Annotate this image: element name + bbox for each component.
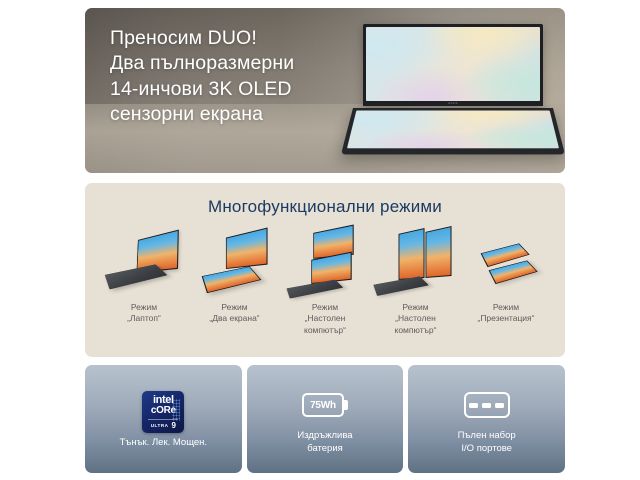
brand-logo: ASUS — [448, 101, 458, 105]
io-slot-1 — [469, 403, 478, 408]
battery-capacity: 75Wh — [310, 400, 336, 411]
mode-desktop-sidebyside-icon — [371, 227, 461, 299]
desktop-detached-keyboard-2 — [373, 276, 429, 296]
battery-body: 75Wh — [302, 393, 344, 417]
io-ports-icon — [464, 392, 510, 418]
mode-desktop-b-label-line-2: „Настолен — [395, 313, 437, 324]
hero-headline-line-1: Преносим DUO! — [110, 26, 375, 51]
hero-headline: Преносим DUO! Два пълноразмерни 14-инчов… — [110, 26, 375, 127]
laptop-keyboard-base — [105, 264, 168, 289]
mode-desktop-a-label-line-3: компютър“ — [304, 325, 346, 336]
intel-word-intel: intel — [153, 395, 174, 406]
mode-laptop-label-line-1: Режим — [127, 302, 161, 313]
feature-card-battery[interactable]: 75Wh Издръжлива батерия — [247, 365, 404, 473]
modes-row: Режим „Лаптоп“ Режим „Два екрана“ — [85, 217, 565, 336]
io-slot-2 — [482, 403, 491, 408]
mode-desktop-b-label-line-1: Режим — [395, 302, 437, 313]
mode-presentation-label-line-2: „Презентация“ — [477, 313, 534, 324]
promo-page: Преносим DUO! Два пълноразмерни 14-инчов… — [0, 0, 640, 480]
battery-label-line-2: батерия — [297, 443, 352, 456]
processor-label-line-1: Тънък. Лек. Мощен. — [120, 437, 208, 450]
mode-item-laptop[interactable]: Режим „Лаптоп“ — [99, 227, 189, 336]
mode-item-presentation[interactable]: Режим „Презентация“ — [461, 227, 551, 336]
feature-card-io-label: Пълен набор I/O портове — [458, 430, 516, 456]
mode-dual-label-line-1: Режим — [209, 302, 259, 313]
feature-cards: intel cORe ULTRA 9 Тънък. Лек. Мощен. 75… — [85, 365, 565, 473]
mode-dual-screen-label: Режим „Два екрана“ — [209, 302, 259, 325]
feature-card-battery-label: Издръжлива батерия — [297, 430, 352, 456]
intel-badge: intel cORe ULTRA 9 — [142, 391, 184, 433]
intel-tier-row: ULTRA 9 — [151, 422, 176, 430]
laptop-lower-screen — [341, 108, 565, 154]
upper-screen-wallpaper — [366, 27, 540, 101]
mode-dual-label-line-2: „Два екрана“ — [209, 313, 259, 324]
intel-badge-dots — [172, 399, 180, 421]
mode-presentation-icon — [461, 227, 551, 299]
dual-lower-screen — [201, 266, 261, 293]
feature-card-processor-label: Тънък. Лек. Мощен. — [120, 437, 208, 450]
desktop-detached-keyboard — [286, 280, 343, 299]
io-label-line-2: I/O портове — [458, 443, 516, 456]
modes-section: Многофункционални режими Режим „Лаптоп“ — [85, 183, 565, 357]
io-ports-icon-wrap — [464, 382, 510, 428]
mode-desktop-b-label-line-3: компютър“ — [395, 325, 437, 336]
io-label-line-1: Пълен набор — [458, 430, 516, 443]
mode-desktop-stacked-icon — [280, 227, 370, 299]
hero-headline-line-3: 14-инчови 3K OLED — [110, 77, 375, 102]
hero-headline-line-2: Два пълноразмерни — [110, 51, 375, 76]
battery-label-line-1: Издръжлива — [297, 430, 352, 443]
mode-desktop-a-label-line-2: „Настолен — [304, 313, 346, 324]
mode-desktop-b-label: Режим „Настолен компютър“ — [395, 302, 437, 336]
battery-icon: 75Wh — [302, 393, 348, 417]
laptop-upper-screen: ASUS — [363, 24, 543, 106]
mode-dual-screen-icon — [190, 227, 280, 299]
battery-terminal — [344, 400, 348, 410]
intel-tier-ultra: ULTRA — [151, 423, 169, 428]
desktop-right-screen — [425, 226, 451, 278]
mode-presentation-label: Режим „Презентация“ — [477, 302, 534, 325]
desktop-left-screen — [398, 228, 424, 280]
battery-icon-wrap: 75Wh — [302, 382, 348, 428]
dual-screen-laptop-image: ASUS — [353, 24, 553, 164]
mode-item-desktop-a[interactable]: Режим „Настолен компютър“ — [280, 227, 370, 336]
lower-screen-wallpaper — [347, 111, 559, 149]
mode-item-dual-screen[interactable]: Режим „Два екрана“ — [190, 227, 280, 336]
feature-card-processor[interactable]: intel cORe ULTRA 9 Тънък. Лек. Мощен. — [85, 365, 242, 473]
mode-desktop-a-label: Режим „Настолен компютър“ — [304, 302, 346, 336]
hero-banner: Преносим DUO! Два пълноразмерни 14-инчов… — [85, 8, 565, 173]
mode-item-desktop-b[interactable]: Режим „Настолен компютър“ — [371, 227, 461, 336]
hero-headline-line-4: сензорни екрана — [110, 102, 375, 127]
io-slot-3 — [495, 403, 504, 408]
feature-card-io-ports[interactable]: Пълен набор I/O портове — [408, 365, 565, 473]
modes-title: Многофункционални режими — [85, 183, 565, 217]
mode-laptop-icon — [99, 227, 189, 299]
mode-laptop-label: Режим „Лаптоп“ — [127, 302, 161, 325]
intel-tier-level: 9 — [171, 422, 175, 430]
mode-desktop-a-label-line-1: Режим — [304, 302, 346, 313]
mode-laptop-label-line-2: „Лаптоп“ — [127, 313, 161, 324]
mode-presentation-label-line-1: Режим — [477, 302, 534, 313]
dual-upper-screen — [225, 227, 267, 269]
intel-core-ultra-badge-icon: intel cORe ULTRA 9 — [142, 389, 184, 435]
